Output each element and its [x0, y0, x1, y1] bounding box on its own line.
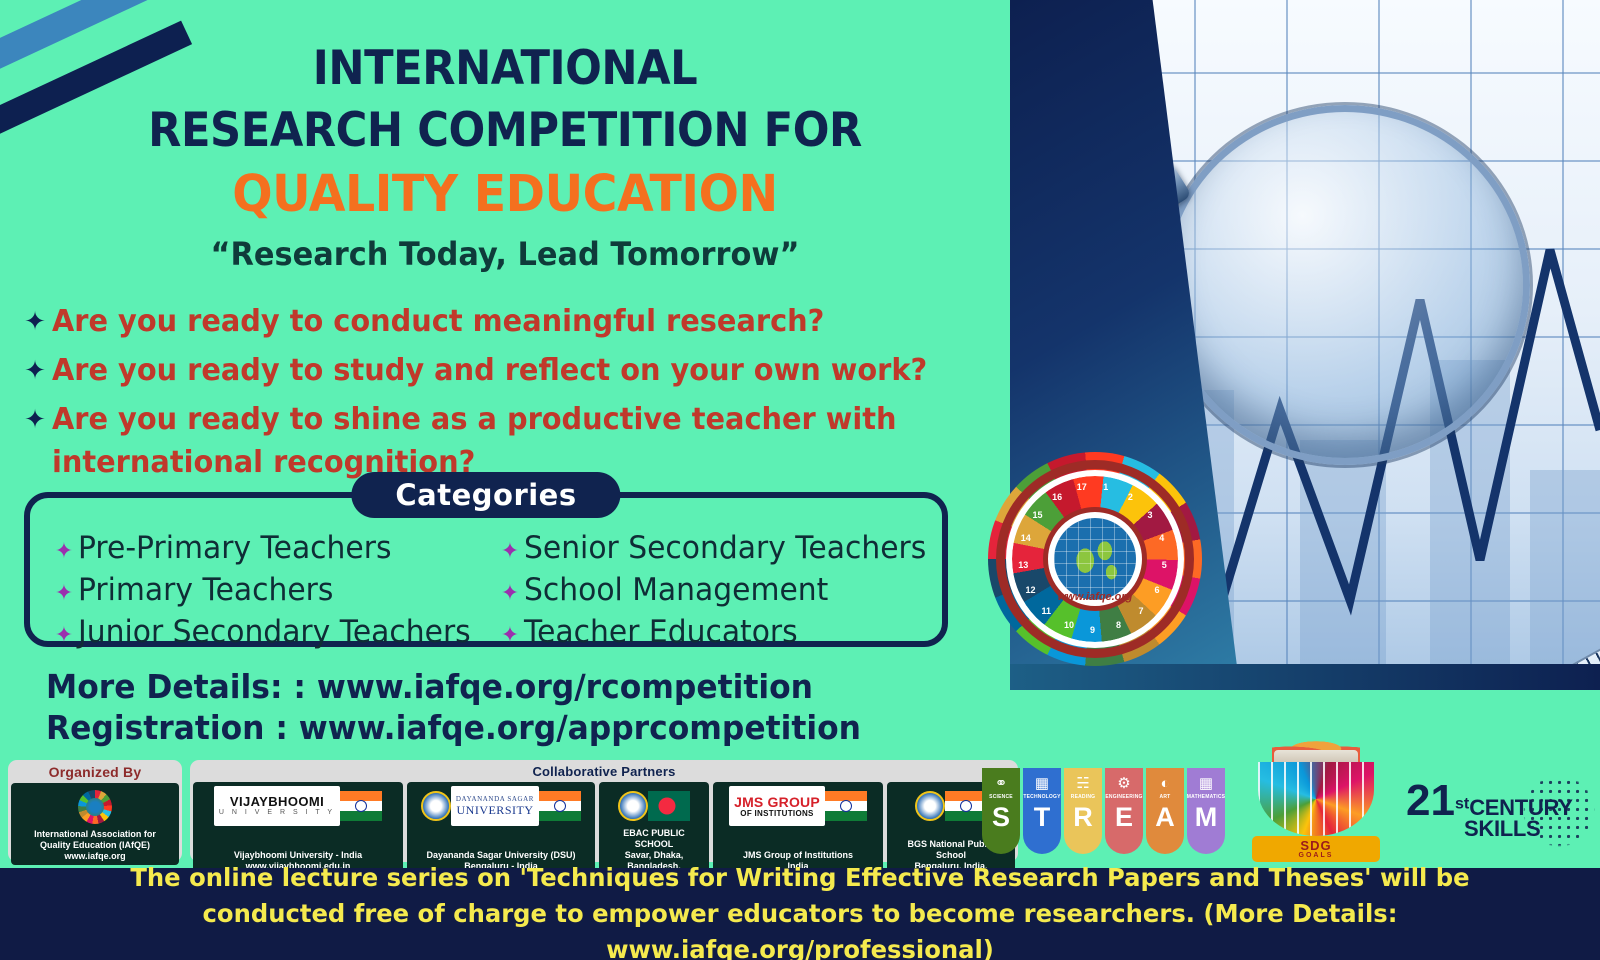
- jms-logo: JMS GROUP OF INSTITUTIONS: [729, 786, 867, 826]
- sdg-goal-number: 9: [1090, 625, 1095, 635]
- sdg-goal-number: 13: [1018, 560, 1028, 570]
- kalash-base: SDG GOALS: [1252, 836, 1380, 862]
- century-skills-logo: 21stCENTURY SKILLS: [1406, 768, 1596, 852]
- circuit-icon: ▦: [1035, 775, 1049, 792]
- links-block: More Details: : www.iafqe.org/rcompetiti…: [46, 666, 904, 748]
- stream-logo: ⚭ SCIENCE S ▦ TECHNOLOGY T ☵ READING R ⚙…: [982, 768, 1225, 854]
- wordmark-main: JMS GROUP: [734, 795, 820, 809]
- century-skills-text: 21stCENTURY SKILLS: [1406, 780, 1573, 842]
- bangladesh-flag-icon: [648, 791, 690, 821]
- sdg-goal-number: 4: [1159, 533, 1164, 543]
- category-label: Primary Teachers: [78, 570, 333, 610]
- sdg-goal-number: 2: [1128, 492, 1133, 502]
- partner-bar: Organized By International Association f…: [8, 760, 1018, 862]
- sdg-wheel-logo: www.iafqe.org 1234567891011121314151617: [988, 452, 1202, 666]
- stream-item-reading: ☵ READING R: [1064, 768, 1102, 854]
- kalash-body: [1258, 762, 1374, 836]
- sdg-center-badge: www.iafqe.org: [1043, 507, 1147, 611]
- stream-item-art: ◐ ART A: [1146, 768, 1184, 854]
- sdg-kalash-subtitle: GOALS: [1299, 852, 1334, 859]
- stream-label: TECHNOLOGY: [1023, 794, 1060, 800]
- organizer-caption: International Association for Quality Ed…: [34, 827, 156, 862]
- sdg-kalash-title: SDG: [1300, 839, 1331, 852]
- category-item: ✦ Senior Secondary Teachers: [496, 528, 942, 568]
- sdg-goal-number: 10: [1064, 620, 1074, 630]
- title-line-2: RESEARCH COMPETITION FOR: [40, 100, 969, 162]
- category-item: ✦ Teacher Educators: [496, 612, 942, 652]
- question-item: ✦ Are you ready to conduct meaningful re…: [18, 300, 978, 343]
- category-label: Pre-Primary Teachers: [78, 528, 391, 568]
- book-reader-icon: ☵: [1076, 775, 1089, 792]
- star-bullet-icon: ✦: [18, 398, 52, 440]
- gear-icon: ⚙: [1117, 775, 1130, 792]
- sdg-goal-number: 16: [1052, 492, 1062, 502]
- question-text: Are you ready to study and reflect on yo…: [52, 349, 927, 392]
- title-line-3-highlight: QUALITY EDUCATION: [35, 162, 974, 228]
- question-text: Are you ready to conduct meaningful rese…: [52, 300, 824, 343]
- dsu-logo: DAYANANDA SAGAR UNIVERSITY: [421, 786, 581, 826]
- sdg-center-url: www.iafqe.org: [1058, 591, 1133, 603]
- categories-heading: Categories: [351, 472, 620, 518]
- footer-banner: The online lecture series on 'Techniques…: [0, 868, 1600, 960]
- globe-icon: [1054, 518, 1136, 600]
- wordmark-sub: UNIVERSITY: [456, 803, 533, 818]
- sdg-goal-number: 11: [1041, 606, 1051, 616]
- categories-column-right: ✦ Senior Secondary Teachers ✦ School Man…: [496, 528, 942, 654]
- sdg-goal-number: 1: [1103, 482, 1108, 492]
- century-skills-number: 21: [1406, 780, 1455, 822]
- stream-label: ENGINEERING: [1105, 794, 1142, 800]
- category-label: School Management: [524, 570, 828, 610]
- india-flag-icon: [340, 791, 382, 821]
- ebac-logo: [618, 786, 690, 826]
- stream-item-technology: ▦ TECHNOLOGY T: [1023, 768, 1061, 854]
- molecule-icon: ⚭: [995, 775, 1008, 792]
- palette-icon: ◐: [1160, 775, 1169, 792]
- stream-letter: A: [1155, 803, 1175, 831]
- sdg-goal-number: 3: [1147, 510, 1152, 520]
- india-flag-icon: [945, 791, 987, 821]
- ebac-seal-icon: [618, 791, 648, 821]
- sdg-goal-number: 5: [1162, 560, 1167, 570]
- stream-item-science: ⚭ SCIENCE S: [982, 768, 1020, 854]
- organized-by-card: Organized By International Association f…: [8, 760, 182, 862]
- collaborative-partners-heading: Collaborative Partners: [193, 762, 1015, 782]
- category-label: Junior Secondary Teachers: [78, 612, 471, 652]
- footer-text: The online lecture series on 'Techniques…: [63, 860, 1537, 960]
- stream-label: MATHEMATICS: [1187, 794, 1225, 800]
- more-details-link[interactable]: More Details: : www.iafqe.org/rcompetiti…: [46, 666, 861, 707]
- collaborative-partners-card: Collaborative Partners VIJAYBHOOMI U N I…: [190, 760, 1018, 862]
- star-bullet-icon: ✦: [496, 538, 524, 564]
- star-bullet-icon: ✦: [50, 538, 78, 564]
- wordmark-main: VIJAYBHOOMI: [230, 795, 324, 808]
- sdg-goal-number: 8: [1116, 620, 1121, 630]
- organized-by-body: International Association for Quality Ed…: [11, 783, 179, 865]
- wordmark-sub: OF INSTITUTIONS: [740, 809, 813, 818]
- category-label: Teacher Educators: [524, 612, 798, 652]
- question-item: ✦ Are you ready to study and reflect on …: [18, 349, 978, 392]
- stream-letter: S: [992, 803, 1010, 831]
- wordmark-sub: U N I V E R S I T Y: [219, 808, 335, 817]
- dsu-seal-icon: [421, 791, 451, 821]
- category-item: ✦ Primary Teachers: [50, 570, 496, 610]
- stream-label: SCIENCE: [989, 794, 1013, 800]
- title-line-1: INTERNATIONAL: [40, 38, 969, 100]
- organizer-logo-cell: International Association for Quality Ed…: [11, 783, 179, 865]
- panel-bottom-strip: [1010, 664, 1600, 690]
- stream-letter: T: [1034, 803, 1051, 831]
- stream-letter: R: [1073, 803, 1093, 831]
- star-bullet-icon: ✦: [18, 300, 52, 342]
- dsu-wordmark: DAYANANDA SAGAR UNIVERSITY: [451, 786, 539, 826]
- poster-root: 7 8 9 10 www.iafqe.org 12345678910111213…: [0, 0, 1600, 960]
- vijaybhoomi-wordmark: VIJAYBHOOMI U N I V E R S I T Y: [214, 786, 340, 826]
- categories-box: Categories ✦ Pre-Primary Teachers ✦ Prim…: [24, 492, 948, 647]
- sdg-goal-number: 12: [1026, 585, 1036, 595]
- sdg-goal-number: 15: [1033, 510, 1043, 520]
- star-bullet-icon: ✦: [18, 349, 52, 391]
- stream-item-mathematics: ▦ MATHEMATICS M: [1187, 768, 1225, 854]
- india-flag-icon: [539, 791, 581, 821]
- star-bullet-icon: ✦: [50, 580, 78, 606]
- categories-columns: ✦ Pre-Primary Teachers ✦ Primary Teacher…: [30, 498, 942, 654]
- question-list: ✦ Are you ready to conduct meaningful re…: [18, 300, 978, 490]
- poster-tagline: “Research Today, Lead Tomorrow”: [25, 228, 985, 280]
- sdg-goal-number: 14: [1021, 533, 1031, 543]
- star-bullet-icon: ✦: [496, 580, 524, 606]
- century-skills-suffix: st: [1455, 796, 1469, 813]
- organized-by-heading: Organized By: [11, 762, 179, 783]
- vijaybhoomi-logo: VIJAYBHOOMI U N I V E R S I T Y: [214, 786, 382, 826]
- sdg-goal-number: 7: [1139, 606, 1144, 616]
- bgs-logo: [915, 786, 987, 826]
- bgs-seal-icon: [915, 791, 945, 821]
- iafqe-logo: [78, 787, 112, 827]
- category-item: ✦ School Management: [496, 570, 942, 610]
- star-bullet-icon: ✦: [50, 622, 78, 648]
- jms-wordmark: JMS GROUP OF INSTITUTIONS: [729, 786, 825, 826]
- sdg-kalash-logo: SDG GOALS: [1246, 744, 1386, 862]
- sdg-wheel-icon: [78, 790, 112, 824]
- stream-letter: M: [1195, 803, 1218, 831]
- sdg-goal-number: 17: [1077, 482, 1087, 492]
- poster-heading-block: INTERNATIONAL RESEARCH COMPETITION FOR Q…: [0, 38, 1010, 280]
- stream-letter: E: [1115, 803, 1133, 831]
- stream-label: ART: [1160, 794, 1171, 800]
- india-flag-icon: [825, 791, 867, 821]
- stream-item-engineering: ⚙ ENGINEERING E: [1105, 768, 1143, 854]
- registration-link[interactable]: Registration : www.iafqe.org/apprcompeti…: [46, 707, 861, 748]
- category-item: ✦ Pre-Primary Teachers: [50, 528, 496, 568]
- calculator-icon: ▦: [1199, 775, 1213, 792]
- categories-column-left: ✦ Pre-Primary Teachers ✦ Primary Teacher…: [50, 528, 496, 654]
- category-label: Senior Secondary Teachers: [524, 528, 926, 568]
- category-item: ✦ Junior Secondary Teachers: [50, 612, 496, 652]
- stream-label: READING: [1071, 794, 1095, 800]
- star-bullet-icon: ✦: [496, 622, 524, 648]
- wordmark-main: DAYANANDA SAGAR: [456, 795, 534, 803]
- sdg-goal-number: 6: [1154, 585, 1159, 595]
- magnifying-glass-lens: [1160, 105, 1530, 465]
